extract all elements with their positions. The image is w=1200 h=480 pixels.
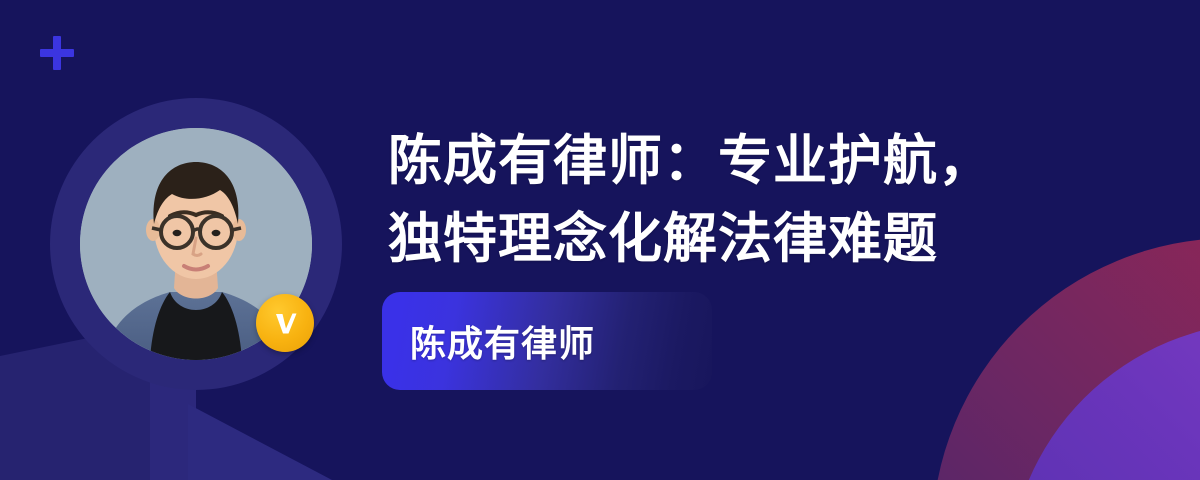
title-line-2: 独特理念化解法律难题	[388, 200, 1088, 278]
decor-triangle	[188, 404, 332, 480]
plus-icon	[40, 36, 74, 70]
decor-circle-purple	[1008, 322, 1200, 480]
title-line-1: 陈成有律师：专业护航，	[388, 122, 1088, 200]
verified-badge	[256, 294, 314, 352]
promo-banner: 陈成有律师：专业护航， 独特理念化解法律难题 陈成有律师	[0, 0, 1200, 480]
avatar	[50, 98, 342, 390]
lawyer-name-button[interactable]: 陈成有律师	[382, 292, 712, 390]
page-title: 陈成有律师：专业护航， 独特理念化解法律难题	[388, 122, 1088, 278]
verified-check-icon	[268, 306, 302, 340]
